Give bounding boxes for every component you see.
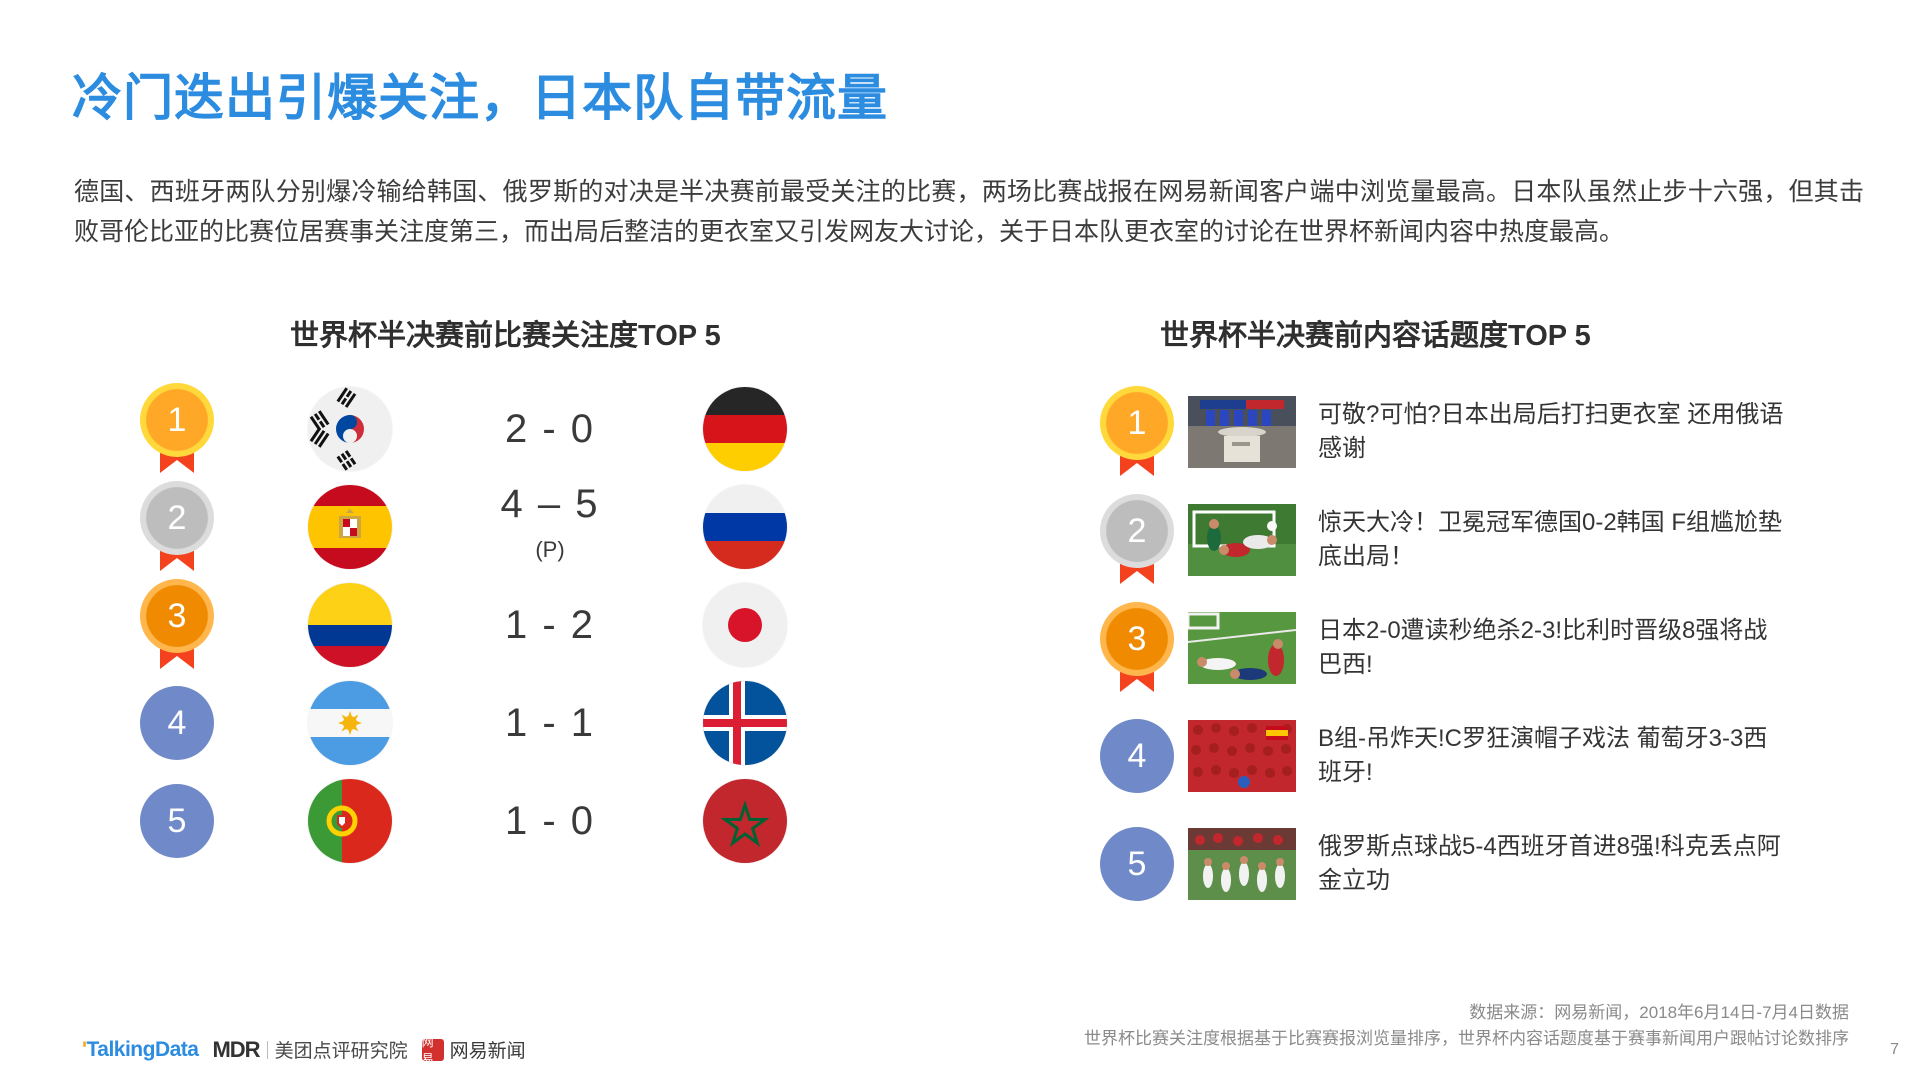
rank-cell: 4 — [140, 686, 250, 760]
rank-cell: 1 — [140, 383, 250, 475]
talkingdata-name: TalkingData — [87, 1038, 199, 1061]
logo-talkingdata: 'TalkingData — [82, 1038, 198, 1062]
news-thumbnail-spain-fans[interactable] — [1188, 720, 1296, 792]
flag-iceland-icon — [703, 681, 787, 765]
intro-paragraph: 德国、西班牙两队分别爆冷输给韩国、俄罗斯的对决是半决赛前最受关注的比赛，两场比赛… — [74, 172, 1864, 252]
source-note: 数据来源：网易新闻，2018年6月14日-7月4日数据 世界杯比赛关注度根据基于… — [1084, 1000, 1849, 1052]
logo-mdr: MDR 美团点评研究院 — [212, 1036, 407, 1063]
table-row: 1 — [140, 380, 840, 478]
rank-number: 2 — [1100, 494, 1174, 568]
page-number: 7 — [1890, 1041, 1899, 1059]
list-item[interactable]: 4 B组-吊炸天!C罗狂演帽子戏法 葡萄牙3-3西班牙! — [1100, 702, 1860, 810]
score-value: 4 – 5 — [501, 482, 600, 526]
rank-cell: 1 — [1100, 386, 1188, 478]
team-right-cell — [650, 387, 840, 471]
rank-cell: 3 — [140, 579, 250, 671]
news-thumbnail-locker-room[interactable] — [1188, 396, 1296, 468]
list-item[interactable]: 5 俄罗斯点球战5-4西班牙首进8强!科克丢点阿金立功 — [1100, 810, 1860, 918]
rank-cell: 5 — [1100, 827, 1188, 901]
score-value: 1 - 0 — [505, 799, 595, 843]
score-value: 2 - 0 — [505, 407, 595, 451]
rank-number: 3 — [1100, 602, 1174, 676]
score-value: 1 - 1 — [505, 701, 595, 745]
rank-number: 3 — [140, 579, 214, 653]
news-thumbnail-japan-belgium[interactable] — [1188, 612, 1296, 684]
list-item[interactable]: 3 日本2-0遭读秒绝杀2-3!比利时晋级8强将战巴西! — [1100, 594, 1860, 702]
divider — [267, 1041, 268, 1059]
rank-number: 1 — [1100, 386, 1174, 460]
flag-south-korea-icon — [308, 387, 392, 471]
source-line-2: 世界杯比赛关注度根据基于比赛赛报浏览量排序，世界杯内容话题度基于赛事新闻用户跟帖… — [1084, 1026, 1849, 1052]
news-thumbnail-russia-celebration[interactable] — [1188, 828, 1296, 900]
rank-badge-5: 5 — [1100, 827, 1174, 901]
rank-number: 4 — [1100, 719, 1174, 793]
rank-number: 2 — [140, 481, 214, 555]
rank-medal-silver: 2 — [140, 481, 214, 573]
rank-cell: 2 — [1100, 494, 1188, 586]
brand-logos: 'TalkingData MDR 美团点评研究院 网易 网易新闻 — [82, 1036, 526, 1063]
rank-medal-silver: 2 — [1100, 494, 1174, 586]
score-cell: 1 - 1 — [450, 701, 650, 745]
list-item[interactable]: 1 可敬?可怕?日本出局后打扫更衣室 还用俄语感谢 — [1100, 378, 1860, 486]
news-ranking-list: 1 可敬?可怕?日本出局后打扫更衣室 还用俄语感谢 2 — [1100, 378, 1860, 918]
team-left-cell — [250, 681, 450, 765]
page-title: 冷门迭出引爆关注，日本队自带流量 — [72, 58, 888, 130]
penalty-note: (P) — [450, 528, 650, 572]
team-right-cell — [650, 681, 840, 765]
rank-badge-4: 4 — [1100, 719, 1174, 793]
rank-number: 5 — [1100, 827, 1174, 901]
right-panel-heading: 世界杯半决赛前内容话题度TOP 5 — [1160, 312, 1591, 354]
table-row: 3 1 - 2 — [140, 576, 840, 674]
score-cell: 2 - 0 — [450, 407, 650, 451]
rank-medal-gold: 1 — [1100, 386, 1174, 478]
rank-cell: 3 — [1100, 602, 1188, 694]
team-left-cell — [250, 485, 450, 569]
rank-badge-5: 5 — [140, 784, 214, 858]
table-row: 2 4 – 5 (P) — [140, 478, 840, 576]
mdr-name: 美团点评研究院 — [275, 1036, 408, 1063]
score-value: 1 - 2 — [505, 603, 595, 647]
rank-cell: 2 — [140, 481, 250, 573]
team-right-cell — [650, 583, 840, 667]
source-line-1: 数据来源：网易新闻，2018年6月14日-7月4日数据 — [1084, 1000, 1849, 1026]
flag-germany-icon — [703, 387, 787, 471]
team-right-cell — [650, 779, 840, 863]
netease-name: 网易新闻 — [450, 1036, 526, 1063]
news-title[interactable]: 日本2-0遭读秒绝杀2-3!比利时晋级8强将战巴西! — [1318, 614, 1788, 682]
rank-cell: 4 — [1100, 719, 1188, 793]
rank-medal-bronze: 3 — [1100, 602, 1174, 694]
logo-netease: 网易 网易新闻 — [422, 1036, 526, 1063]
netease-mark: 网易 — [422, 1039, 444, 1061]
table-row: 4 1 - 1 — [140, 674, 840, 772]
rank-medal-bronze: 3 — [140, 579, 214, 671]
rank-number: 1 — [140, 383, 214, 457]
flag-japan-icon — [703, 583, 787, 667]
list-item[interactable]: 2 惊天大冷！卫冕冠军德国0-2韩国 F组尴尬垫底出局！ — [1100, 486, 1860, 594]
news-title[interactable]: B组-吊炸天!C罗狂演帽子戏法 葡萄牙3-3西班牙! — [1318, 722, 1788, 790]
rank-cell: 5 — [140, 784, 250, 858]
team-left-cell — [250, 387, 450, 471]
news-title[interactable]: 可敬?可怕?日本出局后打扫更衣室 还用俄语感谢 — [1318, 398, 1788, 466]
rank-number: 4 — [140, 686, 214, 760]
match-ranking-table: 1 — [140, 380, 840, 870]
flag-morocco-icon — [703, 779, 787, 863]
rank-medal-gold: 1 — [140, 383, 214, 475]
rank-badge-4: 4 — [140, 686, 214, 760]
team-left-cell — [250, 583, 450, 667]
news-thumbnail-germany-korea-goal[interactable] — [1188, 504, 1296, 576]
score-cell: 4 – 5 (P) — [450, 482, 650, 572]
rank-number: 5 — [140, 784, 214, 858]
flag-russia-icon — [703, 485, 787, 569]
flag-argentina-icon — [308, 681, 392, 765]
table-row: 5 1 - 0 — [140, 772, 840, 870]
score-cell: 1 - 0 — [450, 799, 650, 843]
flag-colombia-icon — [308, 583, 392, 667]
news-title[interactable]: 俄罗斯点球战5-4西班牙首进8强!科克丢点阿金立功 — [1318, 830, 1788, 898]
team-left-cell — [250, 779, 450, 863]
mdr-mark: MDR — [212, 1037, 259, 1063]
flag-spain-icon — [308, 485, 392, 569]
flag-portugal-icon — [308, 779, 392, 863]
news-title[interactable]: 惊天大冷！卫冕冠军德国0-2韩国 F组尴尬垫底出局！ — [1318, 506, 1788, 574]
slide-root: 冷门迭出引爆关注，日本队自带流量 德国、西班牙两队分别爆冷输给韩国、俄罗斯的对决… — [0, 0, 1921, 1080]
team-right-cell — [650, 485, 840, 569]
score-cell: 1 - 2 — [450, 603, 650, 647]
left-panel-heading: 世界杯半决赛前比赛关注度TOP 5 — [290, 312, 721, 354]
